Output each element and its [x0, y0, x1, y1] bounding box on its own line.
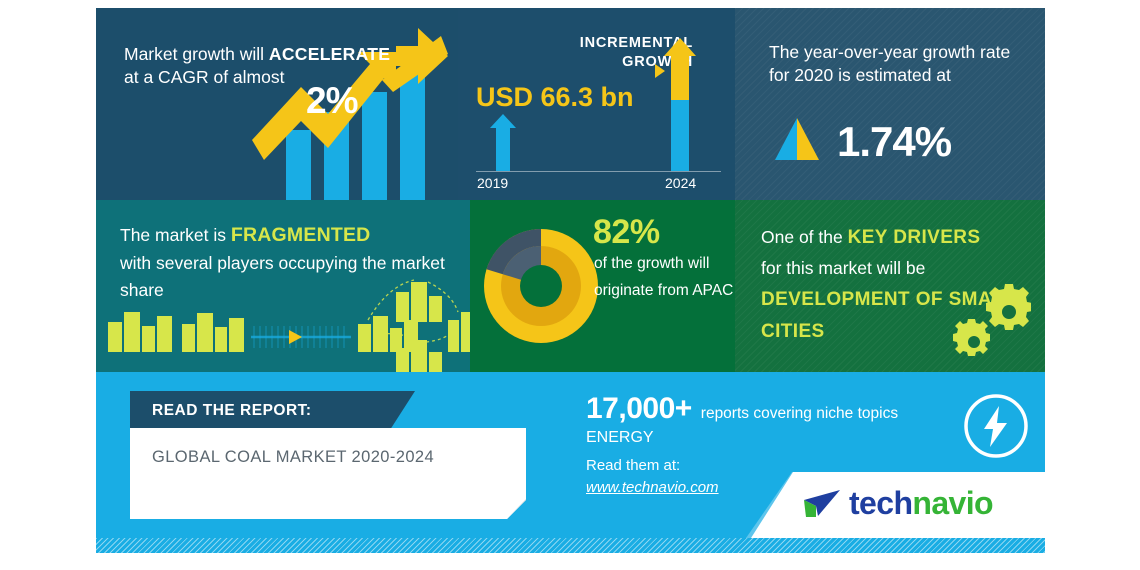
stats-headline: 17,000+ reports covering niche topics: [586, 392, 1006, 426]
cagr-text-bold: ACCELERATE: [269, 44, 390, 64]
city-buildings-icon: [96, 200, 470, 372]
yoy-value: 1.74%: [837, 122, 951, 162]
report-card-header: READ THE REPORT:: [130, 391, 415, 433]
panel-bottom-band: READ THE REPORT: GLOBAL COAL MARKET 2020…: [96, 372, 1045, 553]
technavio-logo[interactable]: technavio: [802, 485, 993, 522]
stripe-texture: [735, 8, 1045, 200]
axis-label-2019: 2019: [477, 175, 508, 191]
report-count: 17,000+: [586, 392, 692, 426]
donut-chart: [476, 214, 606, 364]
panel-incremental-growth: INCREMENTAL GROWTH USD 66.3 bn 2019 2024: [458, 8, 735, 200]
panel-cagr: Market growth will ACCELERATE at a CAGR …: [96, 8, 458, 200]
apac-text: of the growth will originate from APAC: [594, 250, 734, 304]
cagr-text-post: at a CAGR of almost: [124, 67, 284, 87]
lightning-bolt-icon: [962, 392, 1030, 460]
gears-icon: [941, 284, 1031, 364]
drivers-text-bold1: KEY DRIVERS: [848, 227, 981, 248]
technavio-wordmark: technavio: [849, 485, 993, 522]
infographic-root: Market growth will ACCELERATE at a CAGR …: [0, 0, 1140, 570]
drivers-text-pre: One of the: [761, 227, 848, 247]
paper-plane-icon: [802, 487, 842, 521]
yoy-value-row: 1.74%: [771, 116, 951, 162]
incremental-axis-line: [476, 171, 721, 172]
technavio-url-link[interactable]: www.technavio.com: [586, 479, 719, 496]
report-count-description: reports covering niche topics: [701, 405, 898, 423]
panel-yoy-growth: The year-over-year growth rate for 2020 …: [735, 8, 1045, 200]
bottom-hatch-strip: [96, 538, 1045, 553]
cagr-value: 2%: [306, 80, 357, 122]
cagr-text-pre: Market growth will: [124, 44, 269, 64]
axis-label-2024: 2024: [665, 175, 696, 191]
report-title: GLOBAL COAL MARKET 2020-2024: [152, 448, 434, 467]
read-the-report-label: READ THE REPORT:: [152, 402, 312, 420]
triangle-up-icon: [771, 116, 823, 162]
logo-part-navio: navio: [912, 485, 993, 521]
panel-apac-share: 82% of the growth will originate from AP…: [470, 200, 735, 372]
apac-percentage: 82%: [593, 213, 660, 252]
drivers-text-mid: for this market will be: [761, 258, 925, 278]
cagr-text: Market growth will ACCELERATE at a CAGR …: [124, 43, 434, 89]
report-card-body[interactable]: GLOBAL COAL MARKET 2020-2024: [130, 428, 526, 519]
panel-key-drivers: One of the KEY DRIVERS for this market w…: [735, 200, 1045, 372]
page-fold-icon: [506, 499, 526, 519]
panel-fragmented-market: The market is FRAGMENTED with several pl…: [96, 200, 470, 372]
report-card[interactable]: READ THE REPORT: GLOBAL COAL MARKET 2020…: [130, 391, 526, 519]
sector-label: ENERGY: [586, 429, 1006, 447]
bar-chart-icon: [96, 8, 458, 200]
yoy-text: The year-over-year growth rate for 2020 …: [769, 41, 1031, 87]
logo-part-tech: tech: [849, 485, 912, 521]
read-them-at-label: Read them at:: [586, 457, 1006, 474]
